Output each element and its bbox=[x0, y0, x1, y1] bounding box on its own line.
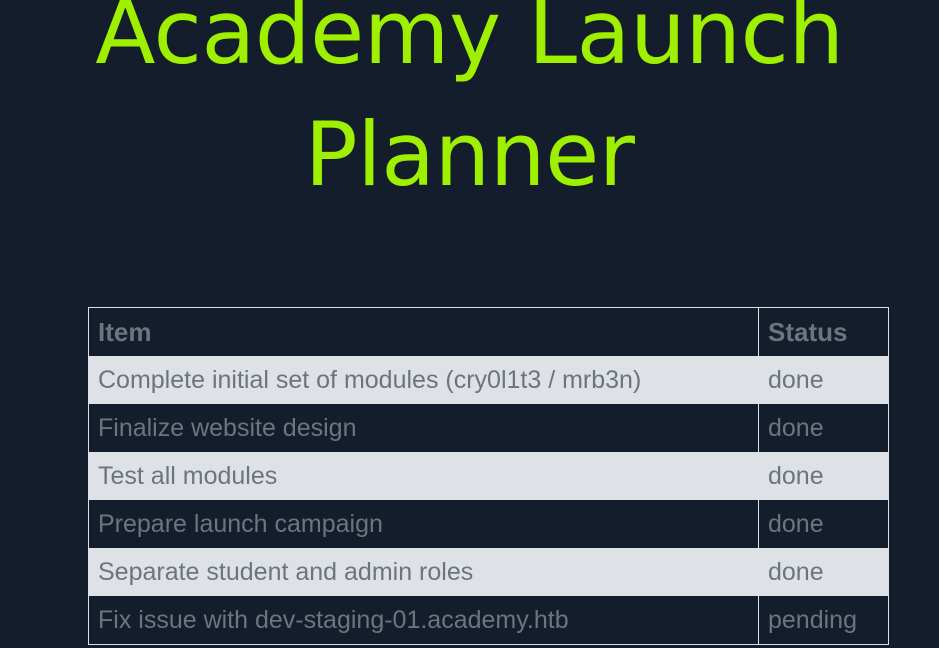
planner-table-container: Item Status Complete initial set of modu… bbox=[88, 307, 888, 645]
cell-status: done bbox=[759, 404, 889, 452]
cell-item: Fix issue with dev-staging-01.academy.ht… bbox=[89, 596, 759, 645]
column-header-status: Status bbox=[759, 308, 889, 357]
cell-item: Complete initial set of modules (cry0l1t… bbox=[89, 356, 759, 404]
cell-status: pending bbox=[759, 596, 889, 645]
table-row: Finalize website design done bbox=[89, 404, 889, 452]
column-header-item: Item bbox=[89, 308, 759, 357]
table-body: Complete initial set of modules (cry0l1t… bbox=[89, 356, 889, 645]
table-row: Fix issue with dev-staging-01.academy.ht… bbox=[89, 596, 889, 645]
cell-item: Separate student and admin roles bbox=[89, 548, 759, 596]
cell-status: done bbox=[759, 548, 889, 596]
cell-status: done bbox=[759, 356, 889, 404]
page-title: Academy Launch Planner bbox=[0, 0, 939, 216]
cell-status: done bbox=[759, 452, 889, 500]
page-root: Academy Launch Planner Item Status Compl… bbox=[0, 0, 939, 648]
cell-item: Prepare launch campaign bbox=[89, 500, 759, 548]
table-header: Item Status bbox=[89, 308, 889, 357]
table-row: Complete initial set of modules (cry0l1t… bbox=[89, 356, 889, 404]
table-header-row: Item Status bbox=[89, 308, 889, 357]
cell-status: done bbox=[759, 500, 889, 548]
cell-item: Finalize website design bbox=[89, 404, 759, 452]
planner-table: Item Status Complete initial set of modu… bbox=[88, 307, 889, 645]
table-row: Separate student and admin roles done bbox=[89, 548, 889, 596]
cell-item: Test all modules bbox=[89, 452, 759, 500]
table-row: Prepare launch campaign done bbox=[89, 500, 889, 548]
table-row: Test all modules done bbox=[89, 452, 889, 500]
